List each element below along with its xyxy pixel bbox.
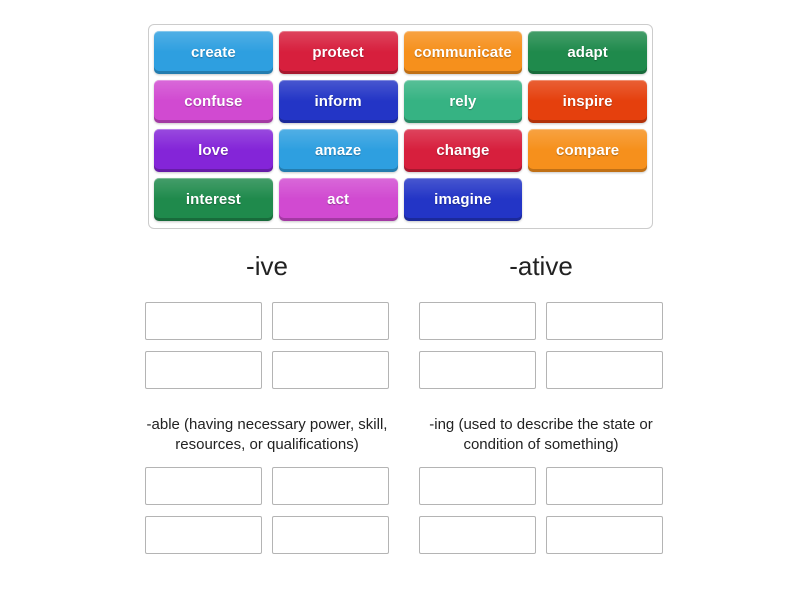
group-slots	[130, 467, 404, 554]
group-slots	[404, 467, 678, 554]
word-tile-label: create	[191, 44, 236, 61]
drop-slot[interactable]	[272, 467, 389, 505]
word-tile[interactable]: communicate	[404, 31, 523, 74]
word-tile-label: confuse	[184, 93, 242, 110]
word-tile[interactable]: act	[279, 178, 398, 221]
word-tile-label: change	[436, 142, 489, 159]
word-tile-label: adapt	[567, 44, 608, 61]
word-tile[interactable]: imagine	[404, 178, 523, 221]
word-tile[interactable]: create	[154, 31, 273, 74]
word-tile[interactable]: rely	[404, 80, 523, 123]
drop-slot[interactable]	[546, 516, 663, 554]
word-tile[interactable]: love	[154, 129, 273, 172]
word-tile[interactable]: change	[404, 129, 523, 172]
drop-slot[interactable]	[546, 351, 663, 389]
word-tile[interactable]: inspire	[528, 80, 647, 123]
drop-slot[interactable]	[419, 302, 536, 340]
word-tile[interactable]: confuse	[154, 80, 273, 123]
word-tile[interactable]: amaze	[279, 129, 398, 172]
group-row-bottom: -able (having necessary power, skill, re…	[130, 415, 678, 554]
group-title: -ative	[404, 252, 678, 288]
groups-area: -ive -ative -able (having necessary powe…	[130, 252, 678, 554]
word-tile[interactable]: inform	[279, 80, 398, 123]
word-tile[interactable]: adapt	[528, 31, 647, 74]
drop-slot[interactable]	[145, 516, 262, 554]
word-bank-container: createprotectcommunicateadaptconfuseinfo…	[148, 24, 653, 229]
drop-slot[interactable]	[419, 351, 536, 389]
word-tile-label: imagine	[434, 191, 491, 208]
drop-slot[interactable]	[272, 351, 389, 389]
group-slots	[130, 302, 404, 389]
group-slots	[404, 302, 678, 389]
word-bank-grid: createprotectcommunicateadaptconfuseinfo…	[154, 31, 647, 221]
group-row-top: -ive -ative	[130, 252, 678, 389]
word-tile[interactable]: protect	[279, 31, 398, 74]
drop-slot[interactable]	[145, 467, 262, 505]
word-tile-label: communicate	[414, 44, 512, 61]
word-tile-label: interest	[186, 191, 241, 208]
drop-slot[interactable]	[546, 302, 663, 340]
word-tile-label: rely	[449, 93, 476, 110]
drop-slot[interactable]	[546, 467, 663, 505]
group-ive: -ive	[130, 252, 404, 389]
drop-slot[interactable]	[419, 467, 536, 505]
drop-slot[interactable]	[419, 516, 536, 554]
drop-slot[interactable]	[272, 302, 389, 340]
word-tile-empty	[528, 178, 647, 221]
word-tile-label: protect	[312, 44, 364, 61]
word-tile-label: inform	[314, 93, 361, 110]
word-tile[interactable]: compare	[528, 129, 647, 172]
drop-slot[interactable]	[145, 351, 262, 389]
drop-slot[interactable]	[272, 516, 389, 554]
drop-slot[interactable]	[145, 302, 262, 340]
word-tile-label: amaze	[315, 142, 361, 159]
group-title: -ing (used to describe the state or cond…	[404, 415, 678, 457]
group-ative: -ative	[404, 252, 678, 389]
word-tile[interactable]: interest	[154, 178, 273, 221]
group-title: -ive	[130, 252, 404, 288]
word-tile-label: act	[327, 191, 349, 208]
group-able: -able (having necessary power, skill, re…	[130, 415, 404, 554]
group-title: -able (having necessary power, skill, re…	[130, 415, 404, 457]
word-tile-label: compare	[556, 142, 619, 159]
word-tile-label: inspire	[563, 93, 613, 110]
group-ing: -ing (used to describe the state or cond…	[404, 415, 678, 554]
word-tile-label: love	[198, 142, 228, 159]
